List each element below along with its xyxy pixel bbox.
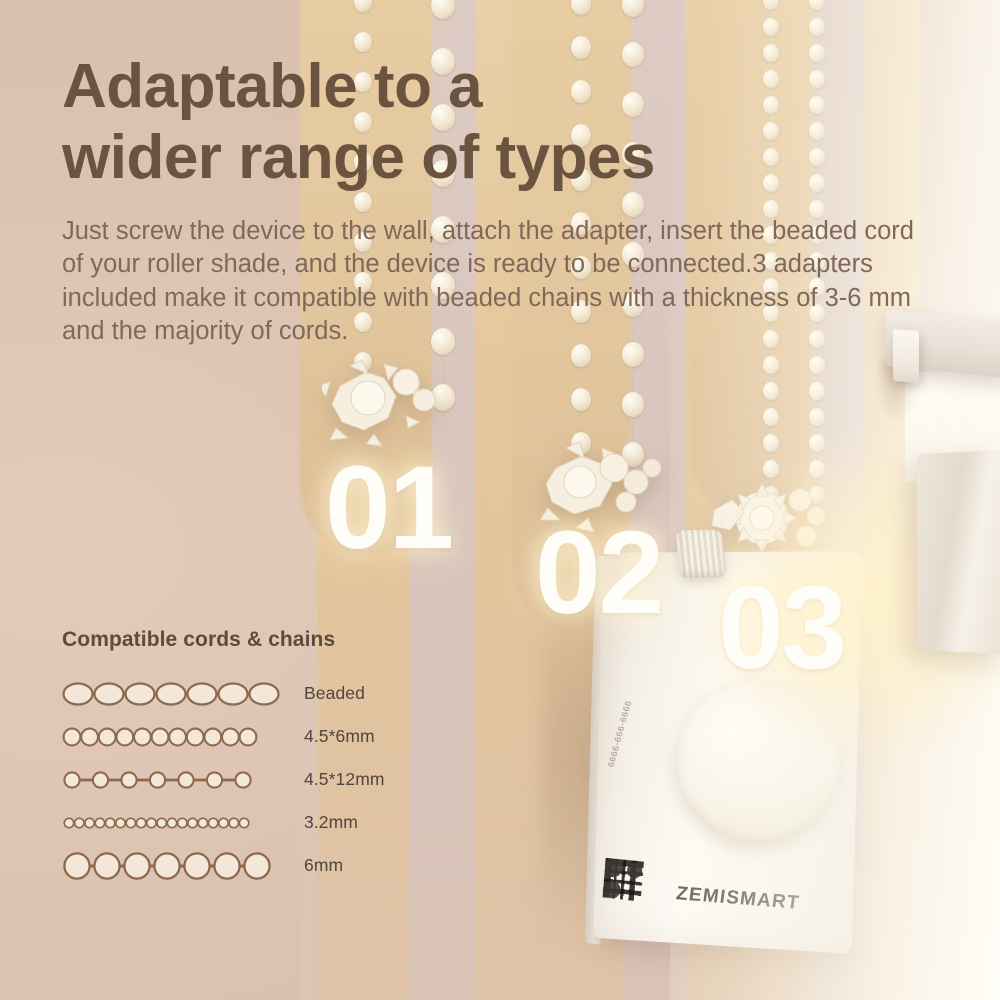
page-title: Adaptable to a wider range of types [62, 52, 942, 193]
chain-diagram-circles-tiny [62, 806, 284, 840]
compatibility-row: 4.5*6mm [62, 715, 385, 758]
chain-size-label: Beaded [284, 683, 365, 704]
marketing-copy-block: Adaptable to a wider range of types Just… [62, 52, 942, 348]
headline-line-2: wider range of types [62, 123, 942, 194]
step-number-01: 01 [325, 455, 452, 561]
device-label-plate: 6666-666-6666 [597, 748, 667, 940]
compatibility-title: Compatible cords & chains [62, 628, 385, 652]
chain-bead [622, 392, 644, 417]
chain-bead [571, 0, 591, 15]
compatibility-row: 6mm [62, 844, 385, 887]
compatibility-row: 4.5*12mm [62, 758, 385, 801]
chain-bead [354, 32, 372, 52]
chain-bead [622, 0, 644, 17]
chain-bead [431, 0, 455, 19]
description-paragraph: Just screw the device to the wall, attac… [62, 215, 930, 348]
headline-line-1: Adaptable to a [62, 52, 482, 121]
wall-mounted-bracket [917, 450, 1000, 655]
chain-diagram-oval-wide [62, 677, 284, 711]
adapter-gear-1 [322, 352, 440, 448]
chain-diagram-circles-large [62, 849, 284, 883]
chain-size-label: 4.5*12mm [284, 769, 385, 790]
qr-code-icon [603, 858, 644, 902]
step-number-03: 03 [718, 575, 845, 681]
chain-diagram-circles-long-bar [62, 763, 284, 797]
compatibility-row: 3.2mm [62, 801, 385, 844]
chain-size-label: 3.2mm [284, 812, 358, 833]
chain-size-label: 6mm [284, 855, 343, 876]
chain-size-label: 4.5*6mm [284, 726, 375, 747]
compatibility-row: Beaded [62, 672, 385, 715]
compatibility-section: Compatible cords & chains Beaded4.5*6mm4… [62, 628, 385, 887]
chain-bead [354, 0, 372, 12]
step-number-02: 02 [535, 520, 662, 626]
chain-diagram-circles-tight [62, 720, 284, 754]
compatibility-row-list: Beaded4.5*6mm4.5*12mm3.2mm6mm [62, 672, 385, 887]
chain-bead [571, 388, 591, 411]
